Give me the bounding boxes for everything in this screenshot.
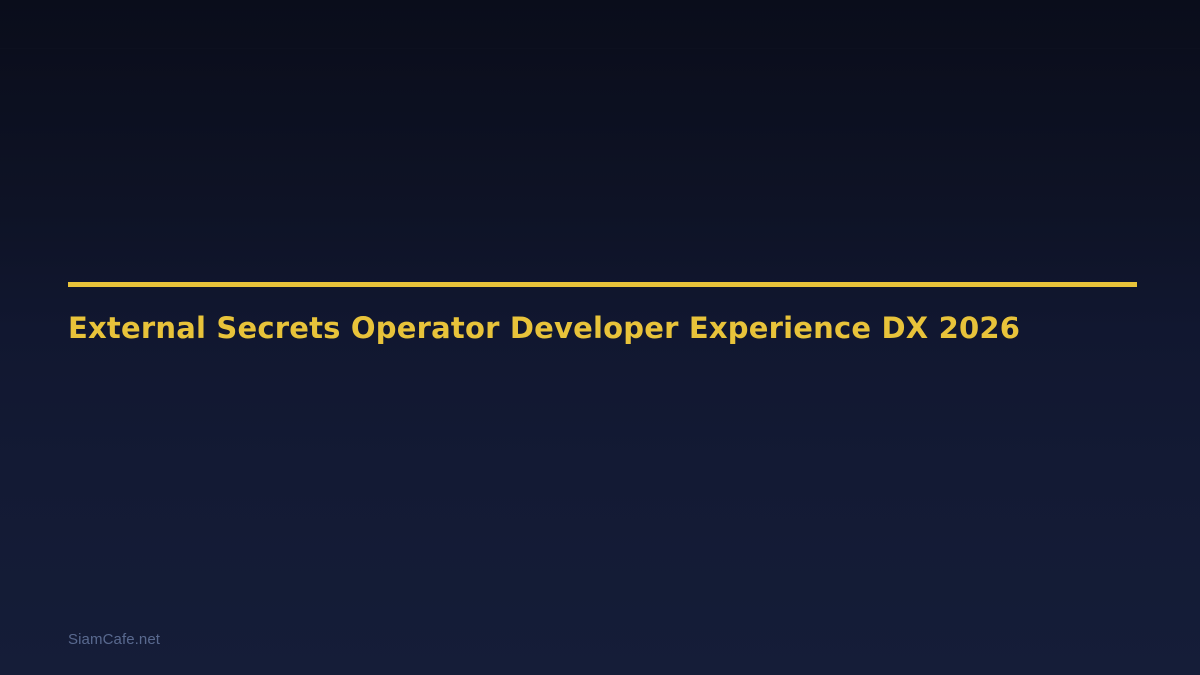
slide-canvas: External Secrets Operator Developer Expe… xyxy=(0,0,1200,675)
footer-attribution: SiamCafe.net xyxy=(68,631,160,648)
slide-footer: SiamCafe.net xyxy=(68,629,160,650)
page-title: External Secrets Operator Developer Expe… xyxy=(68,287,1137,348)
title-block: External Secrets Operator Developer Expe… xyxy=(68,282,1137,348)
